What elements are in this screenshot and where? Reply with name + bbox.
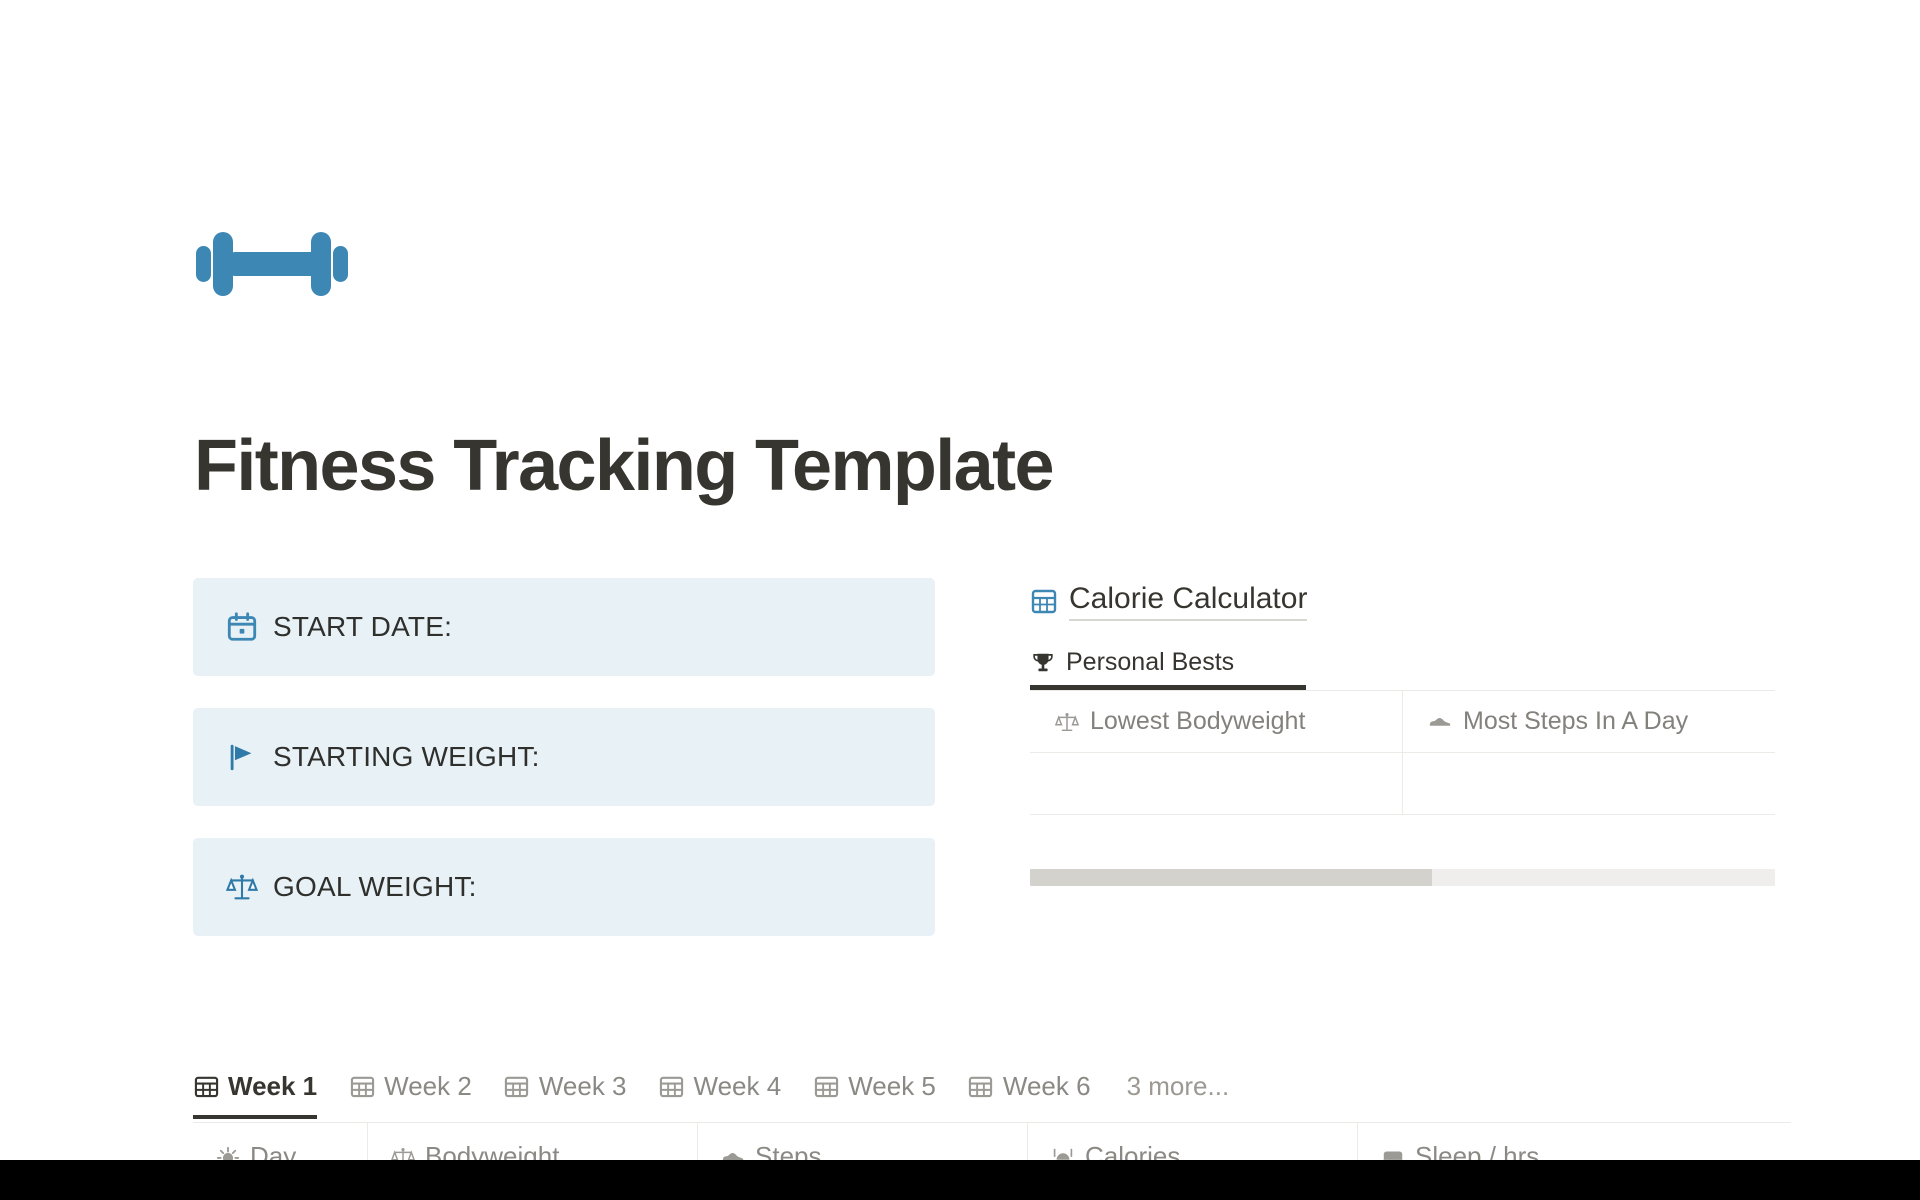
column-header-calories[interactable]: Calories: [1028, 1123, 1358, 1160]
horizontal-scrollbar[interactable]: [1030, 869, 1775, 886]
linked-database-column: Calorie Calculator Personal Bests: [1030, 578, 1790, 886]
notion-page: Fitness Tracking Template START DATE: [0, 0, 1920, 1200]
sun-icon: [215, 1143, 241, 1160]
trophy-icon: [1030, 650, 1056, 676]
callout-start-date[interactable]: START DATE:: [193, 578, 935, 676]
cell-most-steps-in-a-day[interactable]: [1403, 753, 1775, 815]
tab-week-2[interactable]: Week 2: [349, 1065, 472, 1119]
tab-week-3[interactable]: Week 3: [504, 1065, 627, 1119]
tab-more-button[interactable]: 3 more...: [1127, 1065, 1230, 1119]
column-header-steps[interactable]: Steps: [698, 1123, 1028, 1160]
shoe-icon: [720, 1143, 746, 1160]
scrollbar-thumb[interactable]: [1030, 869, 1432, 886]
scales-icon: [390, 1143, 416, 1160]
table-row[interactable]: [1030, 753, 1775, 815]
table-grid-icon: [659, 1073, 685, 1099]
dumbbell-icon[interactable]: [196, 218, 348, 310]
column-header-bodyweight[interactable]: Bodyweight: [368, 1123, 698, 1160]
column-header-lowest-bodyweight[interactable]: Lowest Bodyweight: [1030, 691, 1403, 753]
callout-label: STARTING WEIGHT:: [273, 741, 540, 773]
callout-starting-weight[interactable]: STARTING WEIGHT:: [193, 708, 935, 806]
callout-column: START DATE: STARTING WEIGHT:: [193, 578, 935, 968]
calendar-icon: [225, 610, 259, 644]
tab-week-1[interactable]: Week 1: [193, 1065, 317, 1119]
personal-bests-label: Personal Bests: [1066, 648, 1234, 677]
page-content: Fitness Tracking Template START DATE: [0, 0, 1920, 1160]
calorie-calculator-label: Calorie Calculator: [1069, 582, 1307, 621]
column-header-label: Lowest Bodyweight: [1090, 707, 1305, 736]
column-header-day[interactable]: Day: [193, 1123, 368, 1160]
table-grid-icon: [349, 1073, 375, 1099]
column-header-label: Steps: [755, 1143, 822, 1160]
flag-icon: [225, 740, 259, 774]
tab-label: Week 6: [1003, 1071, 1091, 1102]
callout-label: GOAL WEIGHT:: [273, 871, 477, 903]
database-view-tabbar: Week 1 Week 2: [193, 1065, 1229, 1119]
shoe-icon: [1427, 709, 1453, 735]
tab-label: Week 1: [228, 1071, 317, 1102]
personal-bests-view-tab[interactable]: Personal Bests: [1030, 650, 1306, 690]
table-grid-icon: [1030, 587, 1058, 615]
column-header-most-steps-in-a-day[interactable]: Most Steps In A Day: [1403, 691, 1775, 753]
table-grid-icon: [193, 1073, 219, 1099]
calorie-calculator-link[interactable]: Calorie Calculator: [1030, 578, 1790, 624]
week-table-header: Day Bodyweight: [193, 1122, 1791, 1160]
table-grid-icon: [813, 1073, 839, 1099]
bottom-black-bar: [0, 1160, 1920, 1200]
tab-more-label: 3 more...: [1127, 1071, 1230, 1102]
tab-label: Week 3: [539, 1071, 627, 1102]
cell-lowest-bodyweight[interactable]: [1030, 753, 1403, 815]
column-header-label: Most Steps In A Day: [1463, 707, 1688, 736]
tab-label: Week 4: [694, 1071, 782, 1102]
column-header-label: Bodyweight: [425, 1143, 559, 1160]
table-header-row: Lowest Bodyweight Most Steps In A Day: [1030, 691, 1775, 753]
scales-icon: [1054, 709, 1080, 735]
tab-week-5[interactable]: Week 5: [813, 1065, 936, 1119]
column-header-label: Calories: [1085, 1143, 1180, 1160]
table-grid-icon: [504, 1073, 530, 1099]
calories-icon: [1050, 1143, 1076, 1160]
bed-icon: [1380, 1143, 1406, 1160]
scales-icon: [225, 870, 259, 904]
column-header-label: Sleep / hrs: [1415, 1143, 1539, 1160]
tab-label: Week 2: [384, 1071, 472, 1102]
callout-label: START DATE:: [273, 611, 452, 643]
page-title[interactable]: Fitness Tracking Template: [194, 430, 1053, 502]
column-header-label: Day: [250, 1143, 296, 1160]
callout-goal-weight[interactable]: GOAL WEIGHT:: [193, 838, 935, 936]
tab-week-4[interactable]: Week 4: [659, 1065, 782, 1119]
table-grid-icon: [968, 1073, 994, 1099]
personal-bests-table: Lowest Bodyweight Most Steps In A Day: [1030, 690, 1775, 815]
tab-label: Week 5: [848, 1071, 936, 1102]
tab-week-6[interactable]: Week 6: [968, 1065, 1091, 1119]
column-header-sleep-hrs[interactable]: Sleep / hrs: [1358, 1123, 1791, 1160]
